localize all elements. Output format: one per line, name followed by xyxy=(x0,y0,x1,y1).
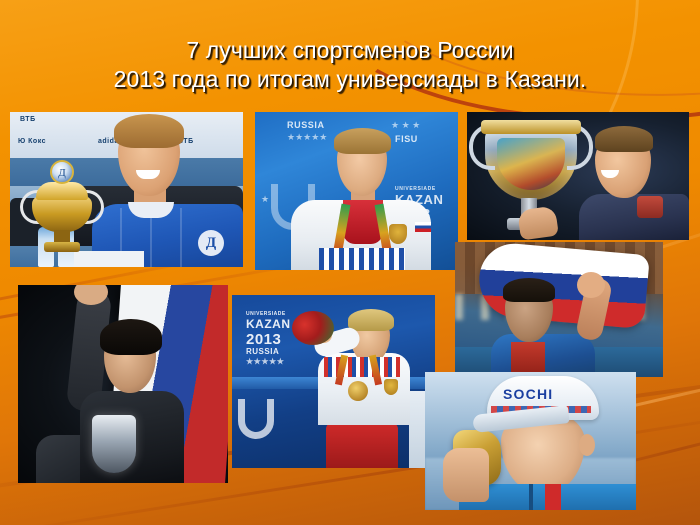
backdrop-stars: ★★★★★ xyxy=(246,357,284,366)
athlete-track-pants xyxy=(326,423,398,468)
trophy-rim xyxy=(481,120,581,134)
slide-title: 7 лучших спортсменов России 2013 года по… xyxy=(0,36,700,94)
trophy-base xyxy=(44,242,80,252)
athlete-hand xyxy=(443,448,489,502)
athlete-hair xyxy=(114,114,184,148)
photo-athlete-lifting-trophy xyxy=(467,112,689,240)
backdrop-text-2013: 2013 xyxy=(246,331,281,348)
backdrop-text-russia: RUSSIA xyxy=(246,347,279,356)
jacket-red-stripe xyxy=(545,484,561,510)
athlete-hair xyxy=(595,126,653,152)
silver-trophy xyxy=(92,415,136,473)
athlete-hair xyxy=(100,319,162,355)
photo-athlete-with-russian-flag-stadium xyxy=(455,242,663,377)
jersey-stripe-3 xyxy=(180,208,182,267)
victory-bouquet xyxy=(292,311,334,345)
photo-universiade-medalist-portrait: RUSSIA ★★★★★ FISU ★ ★ ★ ★ ★ UNIVERSIADE … xyxy=(255,112,458,270)
photo-medal-ceremony-with-flowers: UNIVERSIADE KAZAN 2013 RUSSIA ★★★★★ ★★ ★… xyxy=(232,295,435,468)
universiade-u-logo xyxy=(238,399,274,439)
backdrop-text-russia-top: RUSSIA xyxy=(287,120,325,130)
photo-athlete-with-flag-and-trophy-dark xyxy=(18,285,228,483)
athlete-torso xyxy=(579,194,689,240)
gold-medal xyxy=(348,381,368,401)
table-nameplate xyxy=(66,251,144,267)
russia-coat-of-arms xyxy=(384,379,398,395)
jacket-pattern xyxy=(319,248,405,270)
athlete-hair xyxy=(503,278,555,302)
backdrop-star-left: ★ xyxy=(261,194,269,205)
backdrop-text-kazan: KAZAN xyxy=(246,317,291,331)
athlete-hand xyxy=(577,272,605,298)
athlete-hand xyxy=(517,206,559,240)
jacket-zipper xyxy=(529,484,533,510)
medal-on-chest xyxy=(637,196,663,218)
slide-canvas: 7 лучших спортсменов России 2013 года по… xyxy=(0,0,700,525)
athlete-hair xyxy=(334,128,391,154)
slide-title-line-2: 2013 года по итогам универсиады в Казани… xyxy=(0,65,700,94)
jacket-pattern xyxy=(324,357,400,377)
club-emblem-jersey: Д xyxy=(198,230,224,256)
trophy-emblem: Д xyxy=(50,160,74,184)
trophy-lid xyxy=(36,182,88,200)
backdrop-stars-top: ★★★★★ xyxy=(287,132,327,143)
cap-text-sochi: SOCHI xyxy=(503,386,553,402)
backdrop-stars-fisu: ★ ★ ★ xyxy=(391,120,420,131)
backdrop-text-fisu: FISU xyxy=(395,134,418,144)
sponsor-logo-vtb-1: ВТБ xyxy=(20,116,36,123)
russia-coat-of-arms xyxy=(389,224,407,244)
russia-flag-patch xyxy=(415,222,431,232)
photo-footballer-with-trophy: ВТБ Ю Кокс adidas ВТБ Д Д xyxy=(10,112,243,267)
slide-title-line-1: 7 лучших спортсменов России xyxy=(0,36,700,65)
photo-athlete-sochi-cap-gold-medal: SOCHI xyxy=(425,372,636,510)
sponsor-logo-secondary: Ю Кокс xyxy=(18,138,46,145)
athlete-ear xyxy=(579,434,595,456)
athlete-hair xyxy=(348,309,394,331)
